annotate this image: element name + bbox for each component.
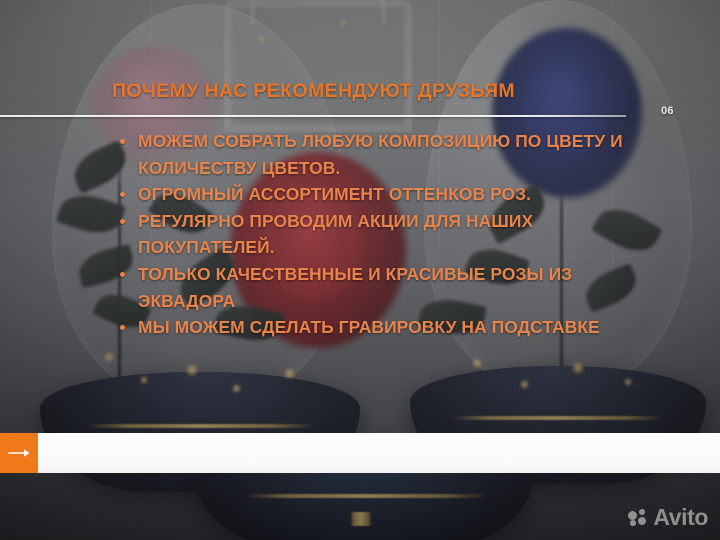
next-slide-button[interactable] <box>0 433 38 473</box>
presentation-slide: ПОЧЕМУ НАС РЕКОМЕНДУЮТ ДРУЗЬЯМ 06 МОЖЕМ … <box>0 0 720 540</box>
arrow-right-icon <box>8 447 30 459</box>
benefits-list: МОЖЕМ СОБРАТЬ ЛЮБУЮ КОМПОЗИЦИЮ ПО ЦВЕТУ … <box>118 128 638 341</box>
page-number: 06 <box>661 105 674 117</box>
list-item: МЫ МОЖЕМ СДЕЛАТЬ ГРАВИРОВКУ НА ПОДСТАВКЕ <box>118 314 638 341</box>
title-divider <box>0 115 626 117</box>
avito-dots-logo <box>628 509 648 526</box>
list-item: ОГРОМНЫЙ АССОРТИМЕНТ ОТТЕНКОВ РОЗ. <box>118 181 638 208</box>
list-item: МОЖЕМ СОБРАТЬ ЛЮБУЮ КОМПОЗИЦИЮ ПО ЦВЕТУ … <box>118 128 638 181</box>
list-item: РЕГУЛЯРНО ПРОВОДИМ АКЦИИ ДЛЯ НАШИХ ПОКУП… <box>118 208 638 261</box>
slide-content: ПОЧЕМУ НАС РЕКОМЕНДУЮТ ДРУЗЬЯМ 06 МОЖЕМ … <box>0 0 720 540</box>
avito-watermark: Avito <box>628 506 708 529</box>
bottom-bar <box>0 433 720 473</box>
avito-brand-text: Avito <box>653 506 708 529</box>
list-item: ТОЛЬКО КАЧЕСТВЕННЫЕ И КРАСИВЫЕ РОЗЫ ИЗ Э… <box>118 261 638 314</box>
page-title: ПОЧЕМУ НАС РЕКОМЕНДУЮТ ДРУЗЬЯМ <box>112 80 515 103</box>
